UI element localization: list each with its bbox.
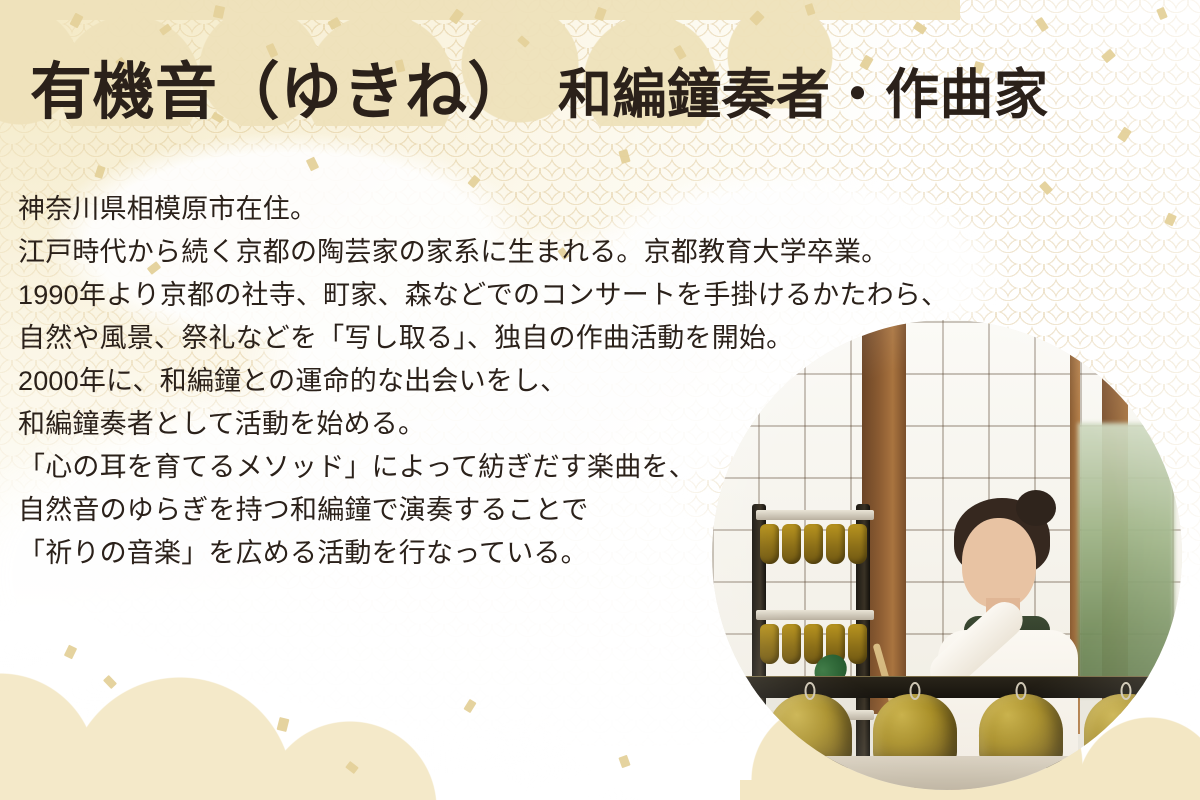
gold-confetti-flake: [1117, 127, 1132, 143]
bio-line: 神奈川県相模原市在住。: [18, 188, 1138, 231]
gold-confetti-flake: [306, 157, 319, 172]
gold-confetti-flake: [1035, 17, 1049, 32]
bio-line: 江戸時代から続く京都の陶芸家の家系に生まれる。京都教育大学卒業。: [18, 231, 1138, 274]
gold-confetti-flake: [618, 149, 630, 164]
photo-vignette: [712, 320, 1182, 790]
artist-name: 有機音（ゆきね）: [30, 62, 530, 124]
page-title: 有機音（ゆきね） 和編鐘奏者・作曲家: [30, 62, 1049, 124]
kumo-cloud-bottom-left: [0, 620, 520, 800]
bio-line: 1990年より京都の社寺、町家、森などでのコンサートを手掛けるかたわら、: [18, 274, 1138, 317]
slide-canvas: 有機音（ゆきね） 和編鐘奏者・作曲家 神奈川県相模原市在住。 江戸時代から続く京…: [0, 0, 1200, 800]
gold-confetti-flake: [94, 165, 105, 179]
gold-confetti-flake: [618, 755, 630, 768]
gold-confetti-flake: [1156, 7, 1168, 20]
gold-confetti-flake: [1101, 49, 1116, 64]
gold-confetti-flake: [1164, 213, 1177, 227]
photo-content: [712, 320, 1182, 790]
artist-role: 和編鐘奏者・作曲家: [558, 68, 1049, 122]
performer-photo: [712, 320, 1182, 790]
gold-confetti-flake: [467, 175, 480, 189]
